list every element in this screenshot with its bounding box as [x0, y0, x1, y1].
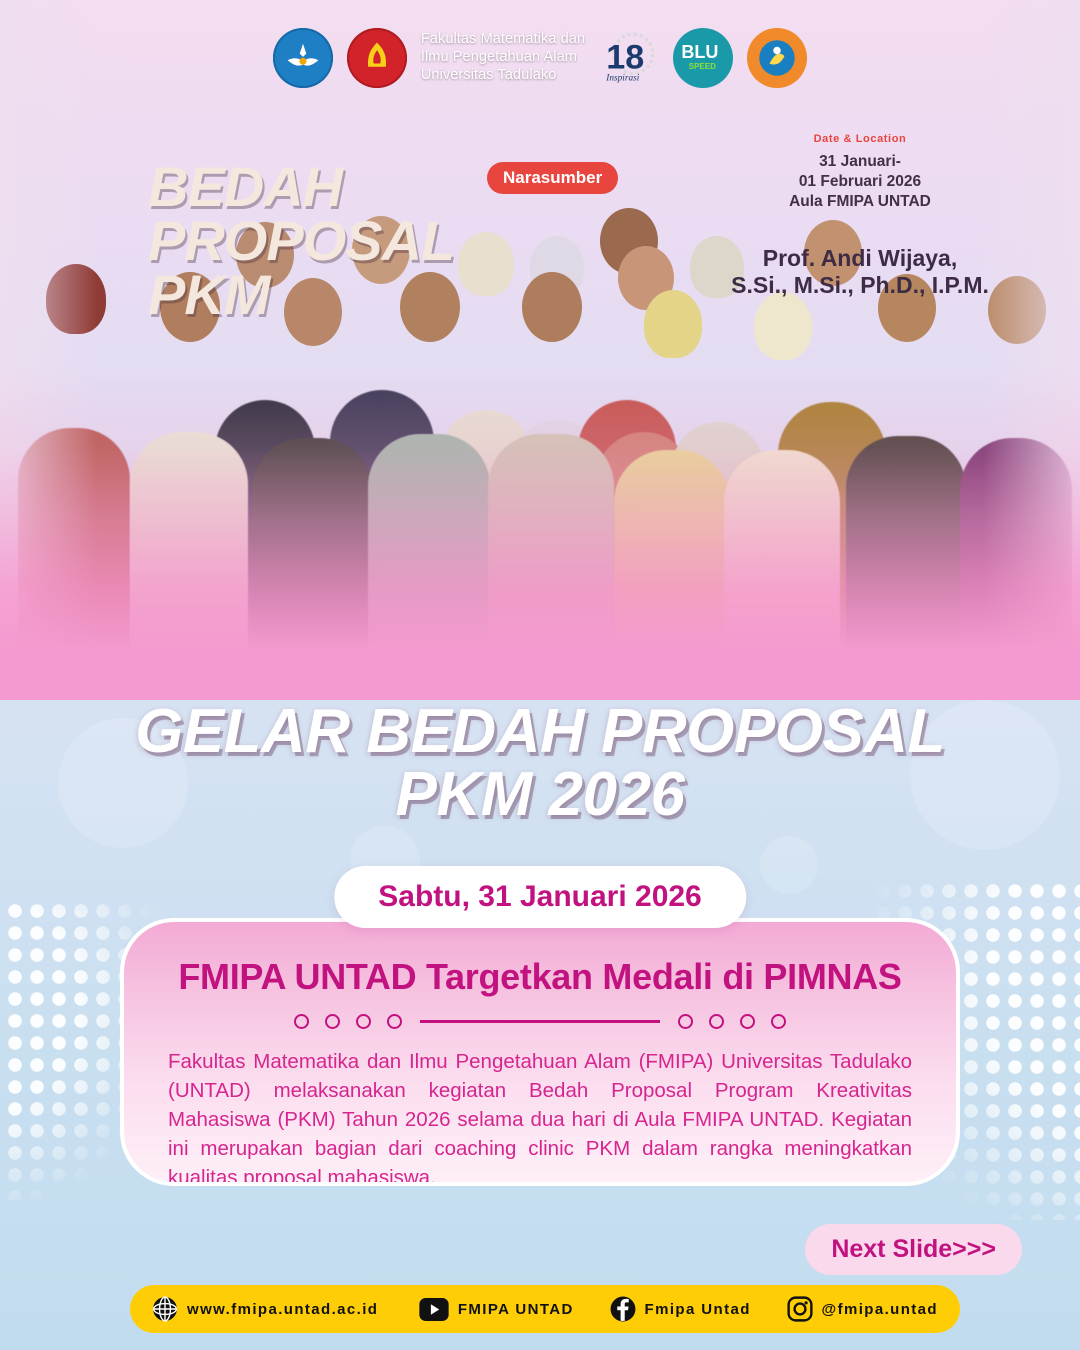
footer-website[interactable]: www.fmipa.untad.ac.id: [152, 1296, 378, 1322]
footer-facebook[interactable]: Fmipa Untad: [610, 1296, 751, 1322]
date-location-label: Date & Location: [770, 133, 950, 145]
institution-line-2: Ilmu Pengetahuan Alam: [421, 49, 577, 65]
svg-text:BLU: BLU: [682, 42, 719, 62]
next-slide-button[interactable]: Next Slide>>>: [805, 1224, 1022, 1275]
tut-wuri-handayani-logo: [273, 28, 333, 88]
photo-date-block: 31 Januari- 01 Februari 2026 Aula FMIPA …: [770, 152, 950, 211]
divider-dot-icon: [356, 1014, 371, 1029]
page-title: GELAR BEDAH PROPOSAL PKM 2026: [0, 700, 1080, 826]
event-photo: BEDAH PROPOSAL PKM Narasumber Date & Loc…: [0, 0, 1080, 700]
footer-youtube[interactable]: FMIPA UNTAD: [419, 1298, 574, 1321]
title-line-2: PKM 2026: [0, 763, 1080, 826]
photo-date-line2: 01 Februari 2026: [799, 173, 921, 190]
institution-line-3: Universitas Tadulako: [421, 67, 557, 83]
divider-dot-icon: [709, 1014, 724, 1029]
anniversary-18-logo: 18 Inspirasi: [599, 28, 659, 88]
social-footer-bar: www.fmipa.untad.ac.id FMIPA UNTAD Fmipa …: [130, 1285, 960, 1333]
speaker-name-line2: S.Si., M.Si., Ph.D., I.P.M.: [731, 272, 989, 298]
narasumber-badge: Narasumber: [487, 162, 618, 194]
divider-dot-icon: [740, 1014, 755, 1029]
photo-date-line3: Aula FMIPA UNTAD: [789, 193, 931, 210]
decor-bubble: [760, 836, 818, 894]
blu-speed-logo: BLU SPEED: [673, 28, 733, 88]
facebook-icon: [610, 1296, 636, 1322]
backdrop-title-line3: PKM: [148, 263, 269, 326]
divider-dot-icon: [325, 1014, 340, 1029]
event-date-badge: Sabtu, 31 Januari 2026: [334, 866, 746, 928]
divider-dot-icon: [387, 1014, 402, 1029]
speaker-name-line1: Prof. Andi Wijaya,: [763, 245, 957, 271]
facebook-label: Fmipa Untad: [645, 1301, 751, 1318]
instagram-icon: [787, 1296, 813, 1322]
photo-date-line1: 31 Januari-: [819, 153, 901, 170]
title-line-1: GELAR BEDAH PROPOSAL: [135, 697, 945, 766]
instagram-label: @fmipa.untad: [822, 1301, 938, 1318]
svg-text:SPEED: SPEED: [689, 62, 717, 71]
photo-bottom-fade: [0, 0, 1080, 700]
svg-text:Inspirasi: Inspirasi: [605, 74, 639, 84]
divider-line: [420, 1020, 660, 1023]
card-body-text: Fakultas Matematika dan Ilmu Pengetahuan…: [154, 1047, 926, 1186]
institution-name: Fakultas Matematika dan Ilmu Pengetahuan…: [421, 31, 585, 84]
universitas-tadulako-logo: [347, 28, 407, 88]
poster-canvas: BEDAH PROPOSAL PKM Narasumber Date & Loc…: [0, 0, 1080, 1350]
content-card: FMIPA UNTAD Targetkan Medali di PIMNAS F…: [120, 918, 960, 1186]
youtube-label: FMIPA UNTAD: [458, 1301, 574, 1318]
globe-icon: [152, 1296, 178, 1322]
divider-dot-icon: [294, 1014, 309, 1029]
youtube-icon: [419, 1298, 449, 1321]
backdrop-banner-title: BEDAH PROPOSAL PKM: [148, 160, 454, 321]
divider-dot-icon: [678, 1014, 693, 1029]
photo-speaker-name: Prof. Andi Wijaya, S.Si., M.Si., Ph.D., …: [715, 245, 1005, 298]
footer-instagram[interactable]: @fmipa.untad: [787, 1296, 938, 1322]
divider-dots-right: [678, 1014, 786, 1029]
diktisaintek-berdampak-logo: [747, 28, 807, 88]
logo-strip: Fakultas Matematika dan Ilmu Pengetahuan…: [0, 28, 1080, 88]
website-label: www.fmipa.untad.ac.id: [187, 1301, 378, 1318]
svg-text:18: 18: [606, 38, 644, 76]
institution-line-1: Fakultas Matematika dan: [421, 31, 585, 47]
card-headline: FMIPA UNTAD Targetkan Medali di PIMNAS: [154, 956, 926, 998]
decorative-divider: [154, 1014, 926, 1029]
divider-dot-icon: [771, 1014, 786, 1029]
divider-dots-left: [294, 1014, 402, 1029]
